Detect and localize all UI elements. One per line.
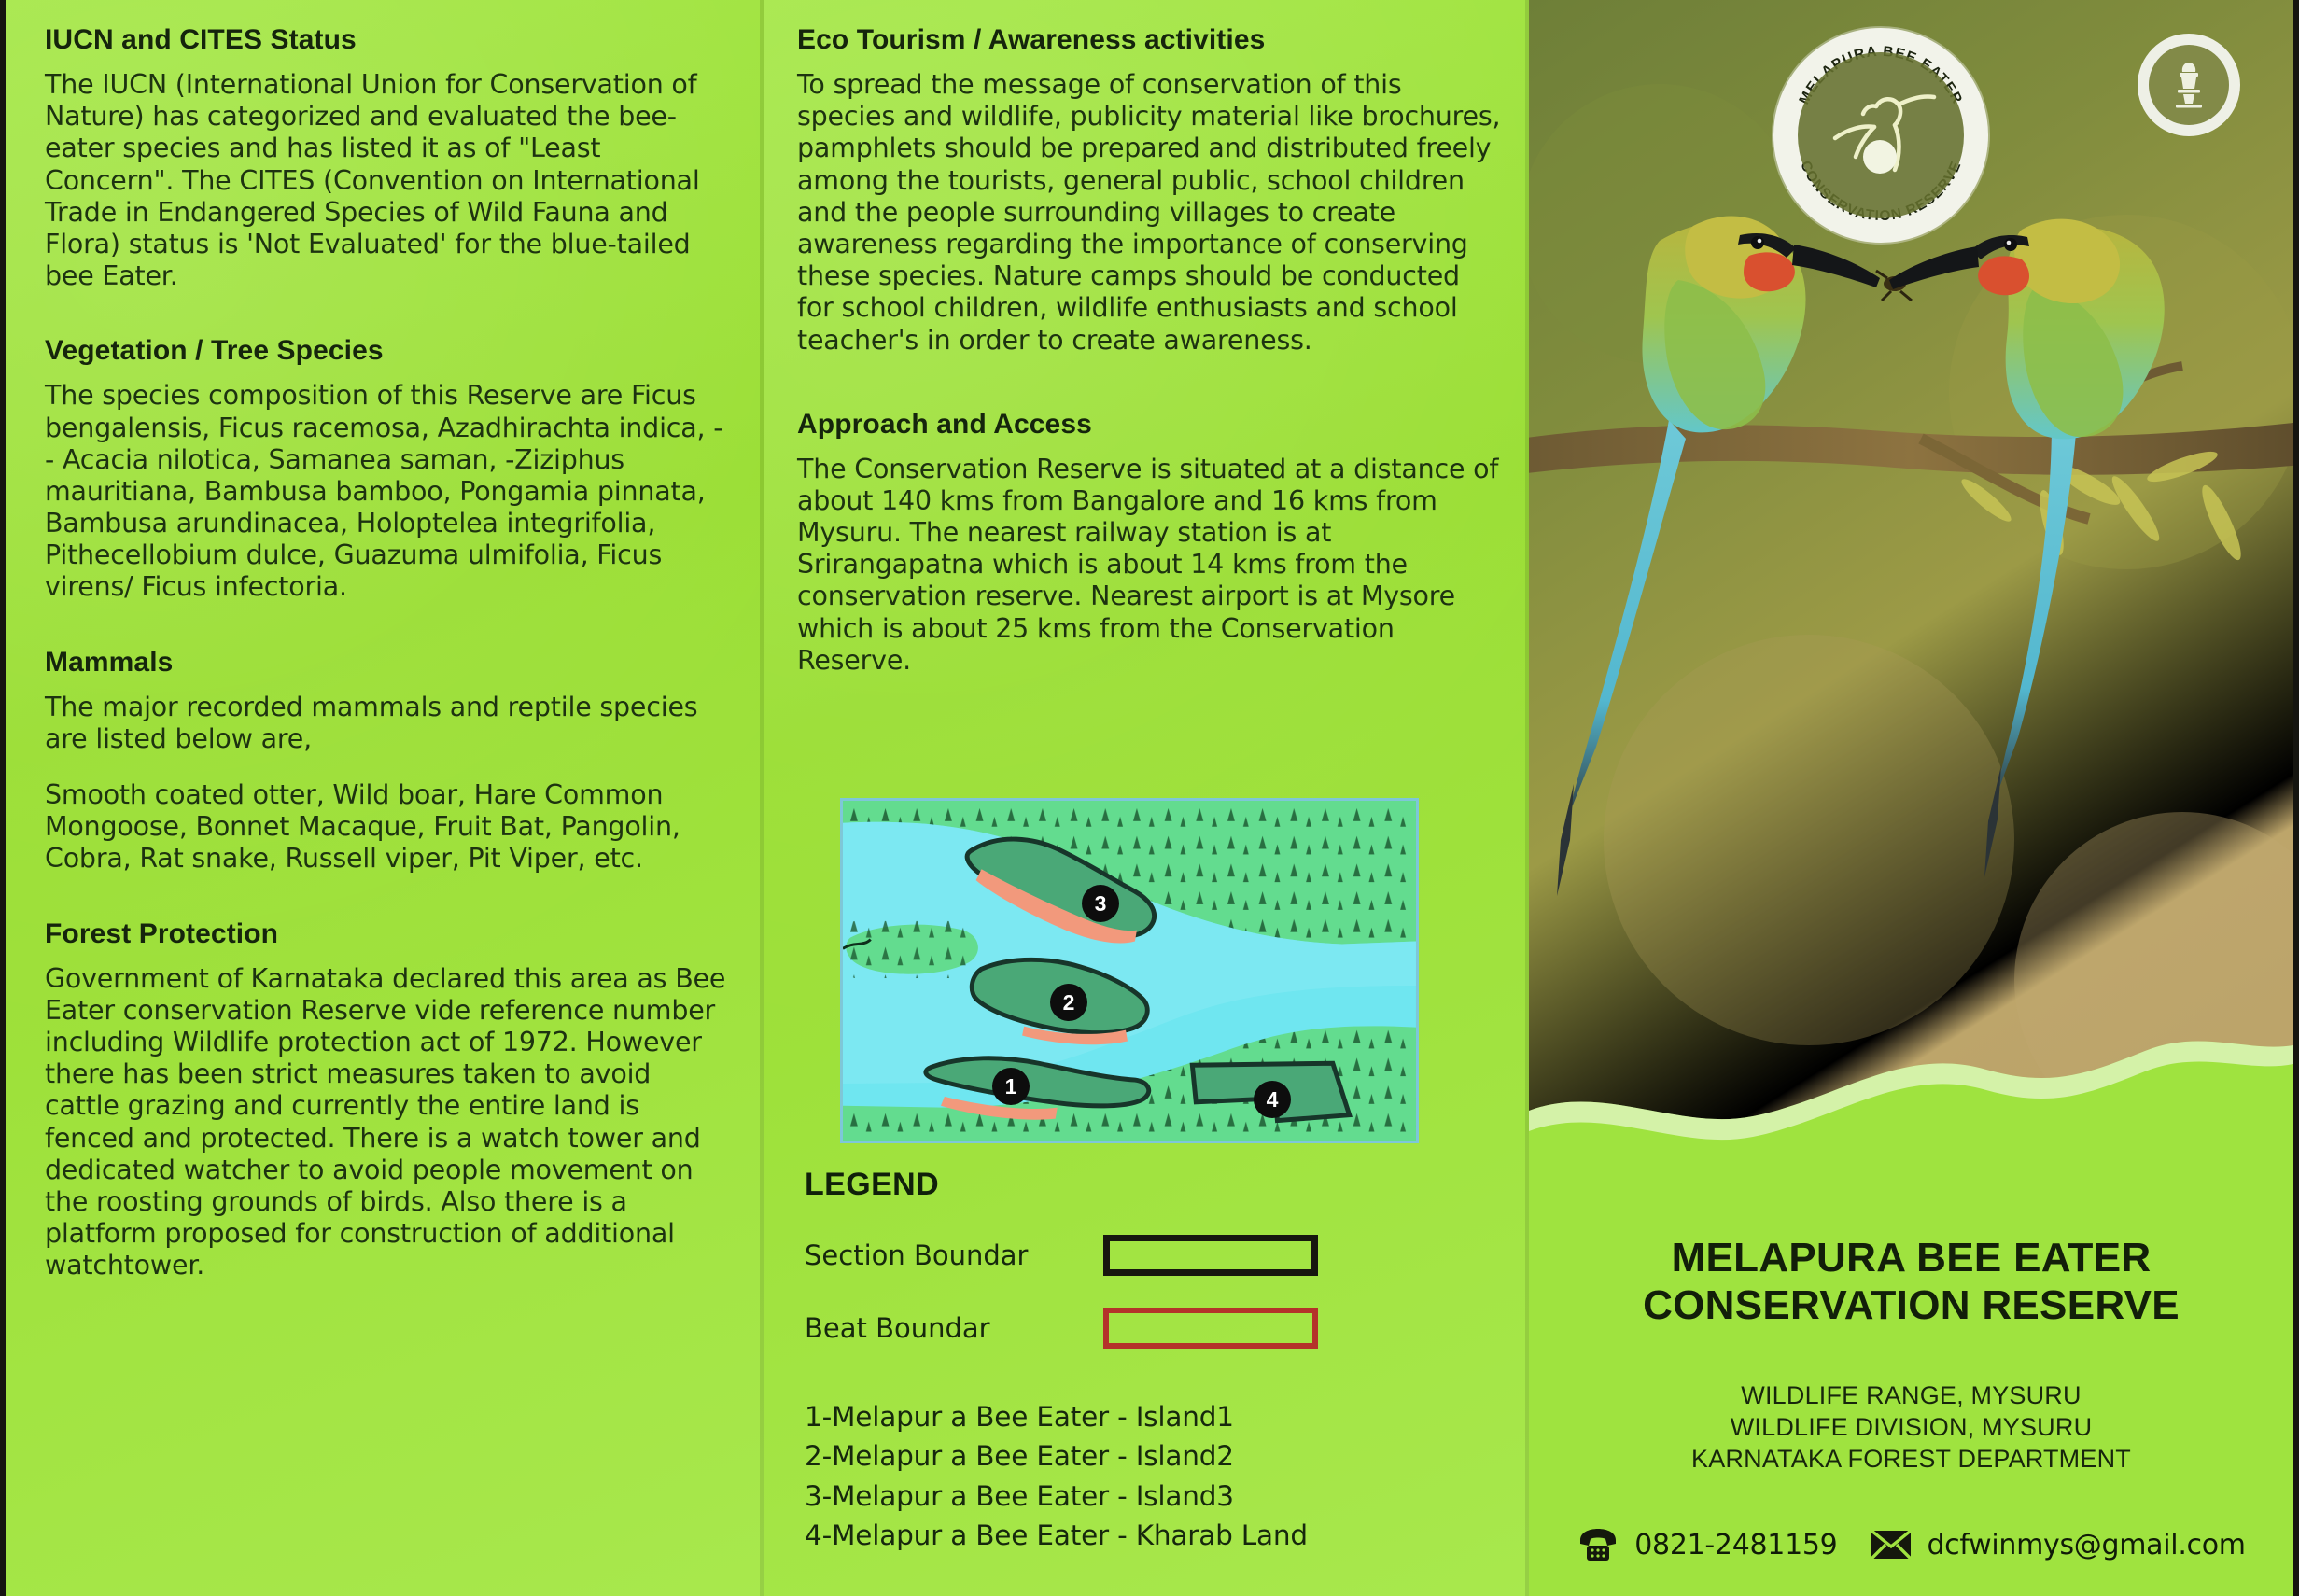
heading-iucn-cites-status: IUCN and CITES Status bbox=[45, 24, 728, 56]
karnataka-state-emblem bbox=[2138, 34, 2240, 136]
subtitle-line-wildlife-division: WILDLIFE DIVISION, MYSURU bbox=[1529, 1411, 2293, 1443]
list-item: 4-Melapur a Bee Eater - Kharab Land bbox=[805, 1516, 1495, 1555]
heading-mammals: Mammals bbox=[45, 647, 728, 679]
spacer bbox=[45, 875, 728, 918]
spacer bbox=[45, 755, 728, 779]
map-marker-island-3[interactable]: 3 bbox=[1082, 885, 1119, 922]
paragraph-mammals-intro: The major recorded mammals and reptile s… bbox=[45, 692, 728, 755]
heading-vegetation-tree-species: Vegetation / Tree Species bbox=[45, 335, 728, 367]
paragraph-vegetation-tree-species: The species composition of this Reserve … bbox=[45, 380, 728, 603]
map-marker-island-1[interactable]: 1 bbox=[992, 1068, 1030, 1105]
telephone-icon bbox=[1577, 1527, 1619, 1562]
reserve-logo: MELAPURA BEE EATER CONSERVATION RESERVE bbox=[1773, 28, 1988, 243]
legend-label-beat-boundary: Beat Boundar bbox=[805, 1312, 1103, 1344]
paragraph-eco-tourism: To spread the message of conservation of… bbox=[797, 69, 1501, 357]
heading-forest-protection: Forest Protection bbox=[45, 918, 728, 950]
paragraph-iucn-cites-status: The IUCN (International Union for Conser… bbox=[45, 69, 728, 292]
legend: LEGEND Section Boundar Beat Boundar 1-Me… bbox=[805, 1167, 1495, 1556]
legend-title: LEGEND bbox=[805, 1167, 1495, 1203]
legend-label-section-boundary: Section Boundar bbox=[805, 1239, 1103, 1271]
left-column-text: IUCN and CITES Status The IUCN (Internat… bbox=[6, 0, 764, 1281]
map-marker-kharab-land[interactable]: 4 bbox=[1254, 1081, 1291, 1118]
subtitle-line-forest-department: KARNATAKA FOREST DEPARTMENT bbox=[1529, 1443, 2293, 1475]
heading-eco-tourism: Eco Tourism / Awareness activities bbox=[797, 24, 1501, 56]
reserve-location-map: 3 2 1 4 bbox=[840, 798, 1419, 1143]
legend-island-list: 1-Melapur a Bee Eater - Island1 2-Melapu… bbox=[805, 1397, 1495, 1556]
list-item: 1-Melapur a Bee Eater - Island1 bbox=[805, 1397, 1495, 1436]
legend-swatch-section-boundary bbox=[1103, 1235, 1318, 1276]
phone-number: 0821-2481159 bbox=[1634, 1529, 1837, 1561]
subtitle-line-wildlife-range: WILDLIFE RANGE, MYSURU bbox=[1529, 1379, 2293, 1411]
logo-inner-disc bbox=[1798, 52, 1964, 218]
reserve-title-line-1: MELAPURA BEE EATER bbox=[1529, 1234, 2293, 1281]
reserve-subtitle: WILDLIFE RANGE, MYSURU WILDLIFE DIVISION… bbox=[1529, 1379, 2293, 1475]
reserve-title-line-2: CONSERVATION RESERVE bbox=[1529, 1281, 2293, 1329]
spacer bbox=[45, 604, 728, 647]
paragraph-forest-protection: Government of Karnataka declared this ar… bbox=[45, 963, 728, 1282]
heading-approach-access: Approach and Access bbox=[797, 409, 1501, 441]
legend-row-section-boundary: Section Boundar bbox=[805, 1235, 1495, 1276]
state-emblem-inner bbox=[2149, 45, 2229, 125]
contact-email[interactable]: dcfwinmys@gmail.com bbox=[1871, 1529, 2245, 1561]
map-marker-island-2[interactable]: 2 bbox=[1050, 984, 1087, 1021]
paragraph-mammals-list: Smooth coated otter, Wild boar, Hare Com… bbox=[45, 779, 728, 875]
lion-capital-icon bbox=[2161, 57, 2217, 113]
brochure-sheet: IUCN and CITES Status The IUCN (Internat… bbox=[0, 0, 2299, 1596]
paragraph-approach-access: The Conservation Reserve is situated at … bbox=[797, 454, 1501, 677]
contact-bar: 0821-2481159 dcfwinmys@gmail.com bbox=[1529, 1527, 2293, 1562]
list-item: 2-Melapur a Bee Eater - Island2 bbox=[805, 1436, 1495, 1476]
reserve-title: MELAPURA BEE EATER CONSERVATION RESERVE bbox=[1529, 1234, 2293, 1329]
middle-column-text: Eco Tourism / Awareness activities To sp… bbox=[764, 0, 1529, 677]
list-item: 3-Melapur a Bee Eater - Island3 bbox=[805, 1477, 1495, 1516]
bee-eater-bird-emblem bbox=[1820, 84, 1942, 187]
left-panel: IUCN and CITES Status The IUCN (Internat… bbox=[6, 0, 764, 1596]
email-address: dcfwinmys@gmail.com bbox=[1927, 1529, 2245, 1561]
envelope-icon bbox=[1871, 1529, 1912, 1561]
spacer bbox=[797, 357, 1501, 409]
map-river-svg bbox=[843, 801, 1416, 1142]
contact-phone[interactable]: 0821-2481159 bbox=[1577, 1527, 1837, 1562]
legend-swatch-beat-boundary bbox=[1103, 1308, 1318, 1349]
spacer bbox=[45, 292, 728, 335]
legend-row-beat-boundary: Beat Boundar bbox=[805, 1308, 1495, 1349]
